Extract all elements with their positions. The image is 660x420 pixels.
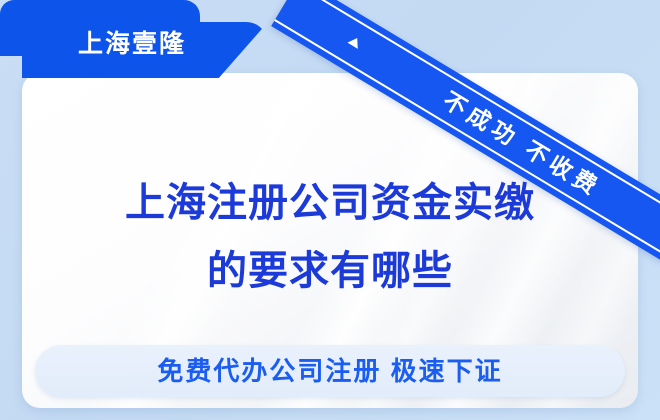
headline-line-2: 的要求有哪些 [22,237,638,305]
brand-tab-label: 上海壹隆 [22,22,242,66]
banner-stage: 上海注册公司资金实缴 的要求有哪些 免费代办公司注册 极速下证 上海壹隆 不成功… [0,0,660,420]
content-card: 上海注册公司资金实缴 的要求有哪些 免费代办公司注册 极速下证 [22,73,638,408]
cta-banner[interactable]: 免费代办公司注册 极速下证 [35,345,625,397]
cta-label: 免费代办公司注册 极速下证 [35,345,625,397]
